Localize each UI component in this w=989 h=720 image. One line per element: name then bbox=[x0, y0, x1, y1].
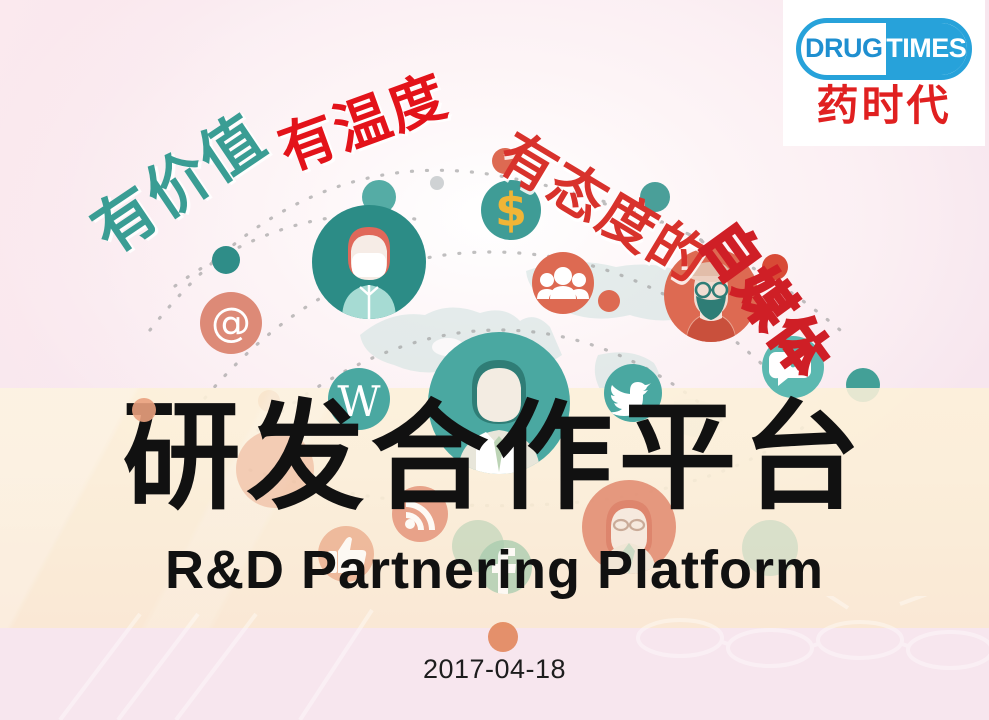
logo-drug-text: DRUG bbox=[801, 23, 883, 75]
at-icon: @ bbox=[200, 292, 262, 354]
accent-dot-darkteal bbox=[212, 246, 240, 274]
accent-circle-band-4 bbox=[488, 622, 518, 652]
drug-times-logo[interactable]: DRUG TIMES 药时代 bbox=[783, 0, 985, 146]
page-title-english: R&D Partnering Platform bbox=[0, 543, 989, 597]
accent-dot-grey bbox=[430, 176, 444, 190]
accent-circle-band-5 bbox=[132, 398, 156, 422]
logo-capsule: DRUG TIMES bbox=[796, 18, 972, 80]
presentation-slide: @ $ bbox=[0, 0, 989, 720]
slide-date: 2017-04-18 bbox=[0, 654, 989, 685]
accent-dot-coral-2 bbox=[598, 290, 620, 312]
logo-times-text: TIMES bbox=[883, 23, 968, 75]
avatar-masked-man bbox=[312, 205, 426, 319]
group-icon bbox=[532, 252, 594, 314]
logo-chinese-name: 药时代 bbox=[816, 84, 951, 128]
svg-text:@: @ bbox=[211, 300, 251, 346]
